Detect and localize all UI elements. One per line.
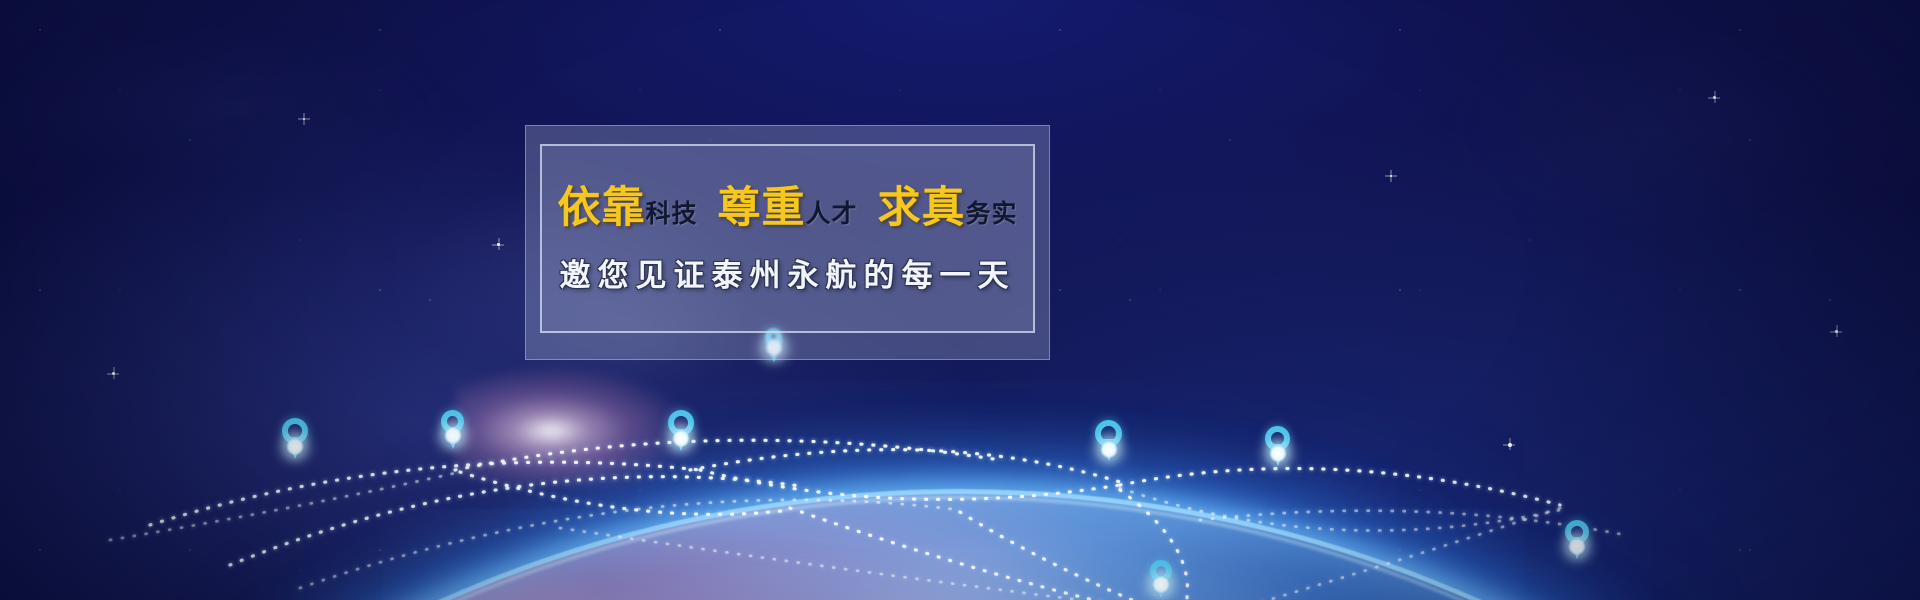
map-pin-glow-dot: [443, 426, 462, 445]
slogan-content: 依靠科技尊重人才求真务实 邀您见证泰州永航的每一天: [542, 146, 1033, 331]
slogan-segment-6: 务实: [966, 202, 1018, 227]
map-pin-glow-dot: [286, 437, 305, 456]
slogan-panel: 依靠科技尊重人才求真务实 邀您见证泰州永航的每一天: [525, 125, 1050, 360]
map-pin-icon: [668, 410, 694, 436]
slogan-panel-inner-border: 依靠科技尊重人才求真务实 邀您见证泰州永航的每一天: [540, 144, 1035, 333]
bright-star: [1713, 96, 1716, 99]
map-pin-glow-dot: [1568, 537, 1587, 556]
map-pin-icon: [1095, 420, 1122, 447]
banner-root: 依靠科技尊重人才求真务实 邀您见证泰州永航的每一天: [0, 0, 1920, 600]
slogan-segment-4: 人才: [805, 202, 857, 227]
map-pin-icon: [1150, 560, 1172, 582]
bright-star: [303, 118, 305, 120]
map-pin-icon: [1565, 520, 1589, 544]
connection-network: [0, 320, 1920, 600]
slogan-segment-3: 尊重: [717, 187, 805, 230]
slogan-segment-2: 科技: [645, 202, 697, 227]
slogan-segment-5: 求真: [878, 187, 966, 230]
slogan-segment-1: 依靠: [557, 187, 645, 230]
map-pin-glow-dot: [1099, 440, 1118, 459]
map-pin-glow-dot: [1268, 444, 1287, 463]
map-pin-icon: [441, 410, 464, 433]
map-pin-icon: [282, 418, 308, 444]
map-pin-glow-dot: [672, 429, 691, 448]
slogan-line-primary: 依靠科技尊重人才求真务实: [557, 187, 1017, 230]
slogan-line-secondary: 邀您见证泰州永航的每一天: [560, 260, 1016, 291]
map-pin-icon: [1265, 426, 1290, 451]
map-pin-glow-dot: [1152, 575, 1171, 594]
